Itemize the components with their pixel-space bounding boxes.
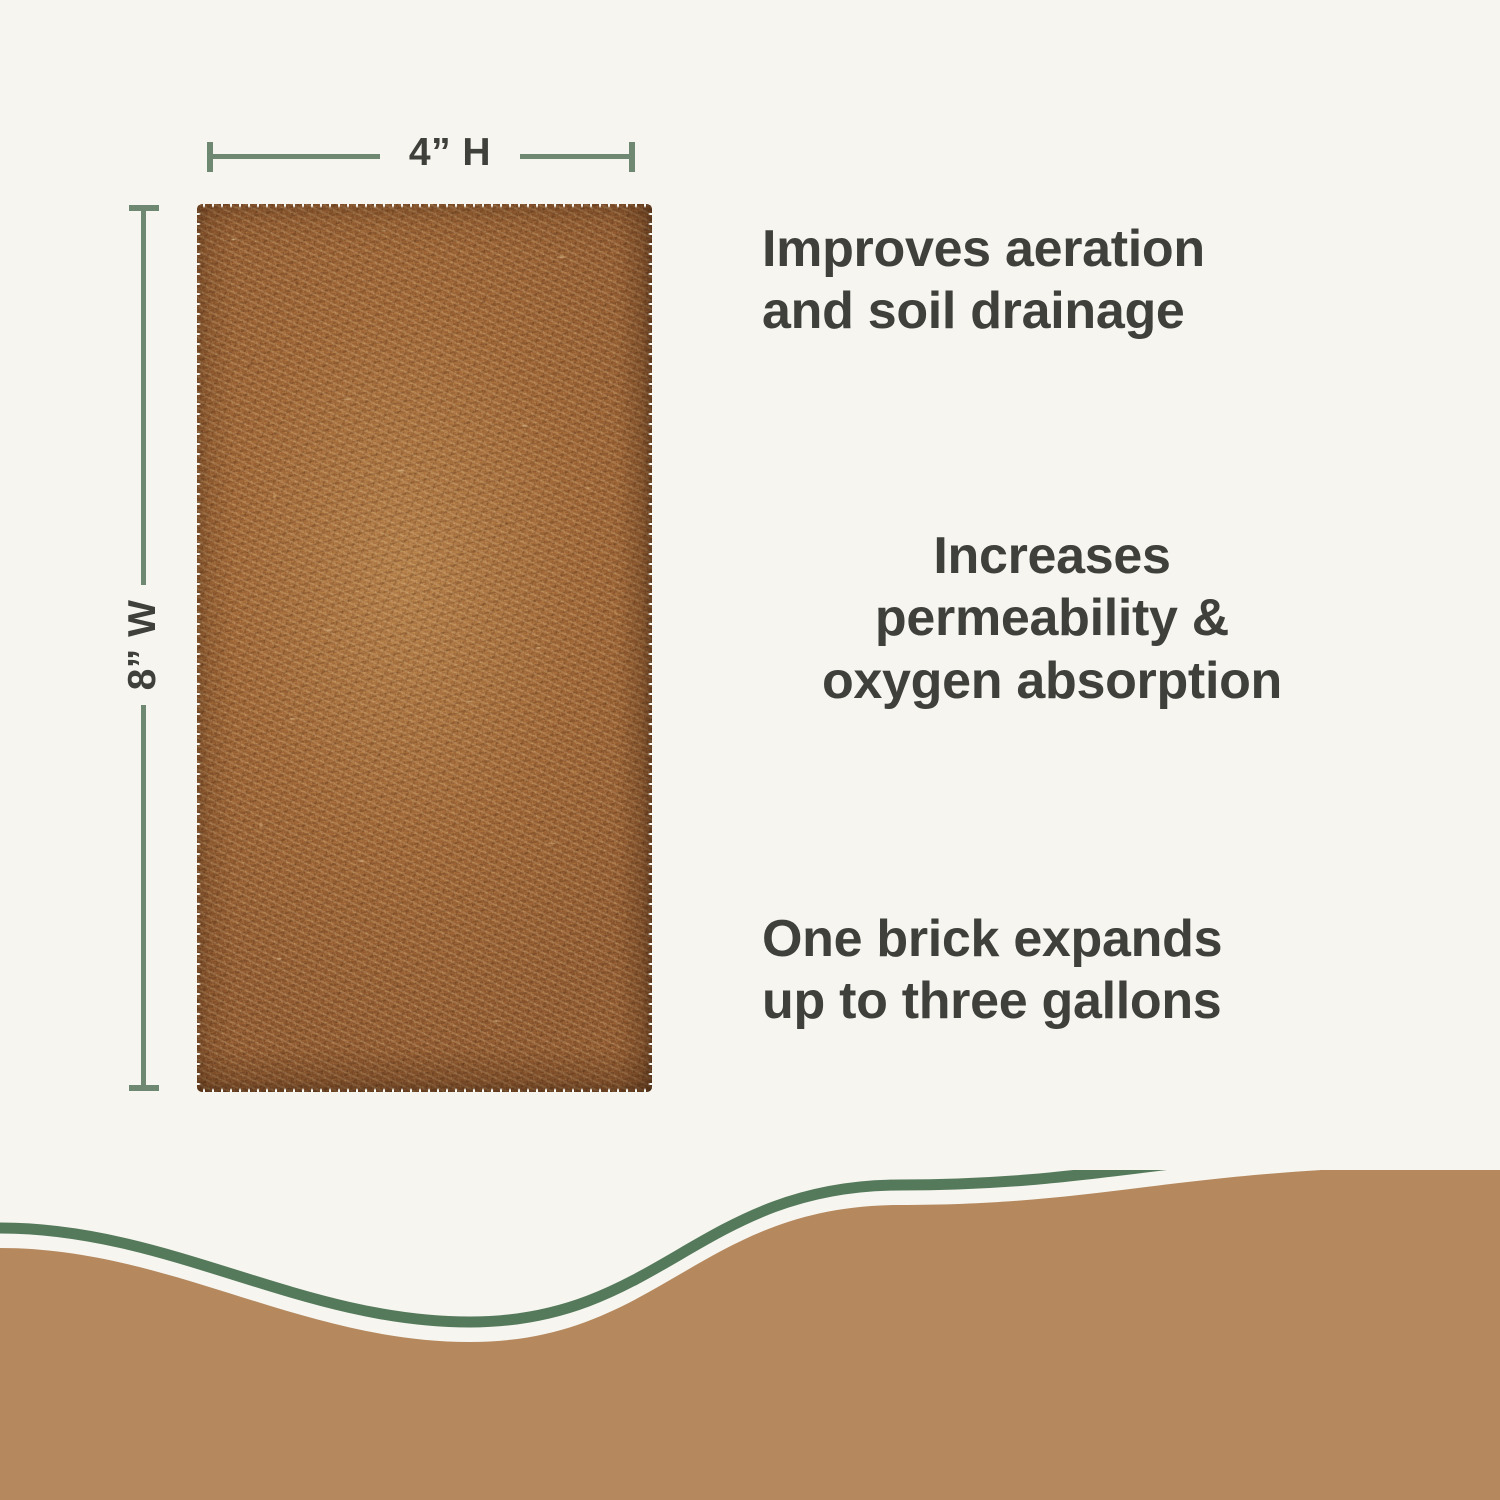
height-dimension-cap-top <box>129 205 159 211</box>
benefit-text-aeration: Improves aeration and soil drainage <box>762 218 1402 343</box>
bottom-soil-wave <box>0 1170 1500 1500</box>
width-dimension-cap-right <box>629 142 635 172</box>
infographic-canvas: 4” H 8” W Improves aeration and soil dra… <box>0 0 1500 1500</box>
height-dimension-label: 8” W <box>73 585 213 705</box>
height-dimension-cap-bottom <box>129 1085 159 1091</box>
coco-coir-brick-image <box>197 204 652 1092</box>
brick-edge-shading <box>197 204 652 1092</box>
benefit-line: Increases <box>742 525 1362 587</box>
width-dimension-cap-left <box>207 142 213 172</box>
benefit-text-expansion: One brick expands up to three gallons <box>762 908 1402 1033</box>
benefit-line: up to three gallons <box>762 970 1402 1032</box>
benefit-line: oxygen absorption <box>742 650 1362 712</box>
benefit-line: Improves aeration <box>762 218 1402 280</box>
benefit-line: One brick expands <box>762 908 1402 970</box>
benefit-text-permeability: Increases permeability & oxygen absorpti… <box>742 525 1362 712</box>
benefit-line: and soil drainage <box>762 280 1402 342</box>
benefit-line: permeability & <box>742 587 1362 649</box>
width-dimension-label: 4” H <box>380 125 520 181</box>
